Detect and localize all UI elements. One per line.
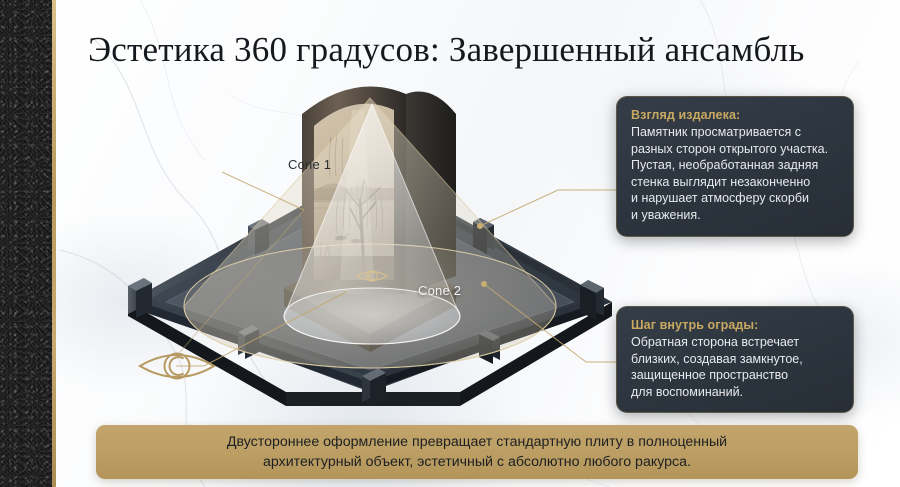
callout-1-text: Памятник просматривается с разных сторон… — [631, 124, 839, 224]
granite-side-band — [0, 0, 52, 487]
callout-step-inside-fence: Шаг внутрь ограды: Обратная сторона встр… — [616, 306, 854, 413]
callout-view-from-afar: Взгляд издалека: Памятник просматриваетс… — [616, 96, 854, 237]
gold-divider-line — [52, 0, 56, 487]
granite-grain-overlay — [0, 0, 52, 487]
callout-2-text: Обратная сторона встречает близких, созд… — [631, 334, 839, 400]
summary-banner: Двустороннее оформление превращает станд… — [96, 425, 858, 479]
page-title: Эстетика 360 градусов: Завершенный ансам… — [88, 28, 878, 72]
memorial-illustration: Cone 1 Cone 2 — [88, 80, 648, 410]
callout-2-heading: Шаг внутрь ограды: — [631, 318, 839, 332]
summary-banner-text: Двустороннее оформление превращает станд… — [227, 432, 727, 472]
callout-1-heading: Взгляд издалека: — [631, 108, 839, 122]
cone-2-label: Cone 2 — [418, 283, 461, 298]
cone-1-label: Cone 1 — [288, 157, 331, 172]
slide-canvas: Эстетика 360 градусов: Завершенный ансам… — [0, 0, 900, 487]
